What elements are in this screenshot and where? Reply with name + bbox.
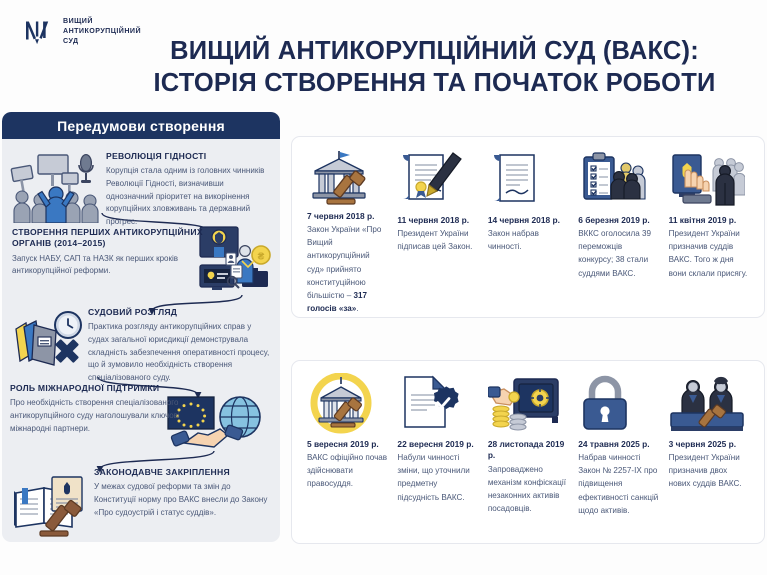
timeline-date: 6 березня 2019 р. bbox=[578, 215, 658, 226]
timeline-text: Закон набрав чинності. bbox=[488, 227, 568, 253]
preconditions-body: ₴ bbox=[2, 139, 280, 542]
open-book-gavel-decree-icon bbox=[14, 475, 96, 537]
timeline-text: Закон України «Про Вищий антикорупційний… bbox=[307, 223, 387, 315]
svg-text:₴: ₴ bbox=[258, 252, 265, 263]
timeline-item: 7 червня 2018 р. Закон України «Про Вищи… bbox=[302, 149, 392, 307]
timeline-date: 7 червня 2018 р. bbox=[307, 211, 387, 222]
timeline-date: 11 червня 2018 р. bbox=[397, 215, 477, 226]
timeline-item: 11 квітня 2019 р. Президент України приз… bbox=[664, 149, 754, 307]
page-title: ВИЩИЙ АНТИКОРУПЦІЙНИЙ СУД (ВАКС): ІСТОРІ… bbox=[112, 36, 757, 99]
timeline-date: 28 листопада 2019 р. bbox=[488, 439, 568, 462]
timeline-text: Набрав чинності Закон № 2257-IX про підв… bbox=[578, 451, 658, 517]
precondition-block-judicial-review: СУДОВИЙ РОЗГЛЯД Практика розгляду антико… bbox=[88, 307, 274, 384]
timeline-text: Президент України призначив двох нових с… bbox=[669, 451, 749, 490]
page-title-line-1: ВИЩИЙ АНТИКОРУПЦІЙНИЙ СУД (ВАКС): bbox=[170, 37, 699, 65]
timeline-text-after: . bbox=[356, 304, 358, 313]
protest-crowd-icon bbox=[10, 151, 102, 223]
timeline-date: 11 квітня 2019 р. bbox=[669, 215, 749, 226]
timeline-text-before: Закон України «Про Вищий антикорупційний… bbox=[307, 225, 381, 300]
document-check-badge-icon bbox=[397, 373, 477, 435]
timeline-text: Президент України призначив суддів ВАКС.… bbox=[669, 227, 749, 279]
timeline-item: 5 вересня 2019 р. ВАКС офіційно почав зд… bbox=[302, 373, 392, 533]
precondition-text-4: У межах судової реформи та змін до Конст… bbox=[94, 481, 272, 519]
timeline-item: 22 вересня 2019 р. Набули чинності зміни… bbox=[392, 373, 482, 533]
padlock-icon bbox=[578, 373, 658, 435]
scroll-document-icon bbox=[488, 149, 568, 211]
precondition-title-2: СУДОВИЙ РОЗГЛЯД bbox=[88, 307, 274, 318]
infographic-page: ВИЩИЙ АНТИКОРУПЦІЙНИЙ СУД ВИЩИЙ АНТИКОРУ… bbox=[0, 0, 767, 575]
document-signing-pen-icon bbox=[397, 149, 477, 211]
timeline-row-2: 5 вересня 2019 р. ВАКС офіційно почав зд… bbox=[292, 361, 764, 543]
preconditions-panel: Передумови створення bbox=[2, 112, 280, 542]
timeline-text: Запроваджено механізм конфіскації незако… bbox=[488, 463, 568, 515]
precondition-text-2: Практика розгляду антикорупційних справ … bbox=[88, 321, 274, 384]
precondition-block-first-bodies: СТВОРЕННЯ ПЕРШИХ АНТИКОРУПЦІЙНИХ ОРГАНІВ… bbox=[12, 227, 212, 278]
safe-coins-hand-icon bbox=[488, 373, 568, 435]
timeline-card-2019-2025: 5 вересня 2019 р. ВАКС офіційно почав зд… bbox=[291, 360, 765, 544]
timeline-item: 28 листопада 2019 р. Запроваджено механі… bbox=[483, 373, 573, 533]
precondition-text-3: Про необхідність створення спеціалізован… bbox=[10, 397, 196, 435]
timeline-text: ВККС оголосила 39 переможців конкурсу; 3… bbox=[578, 227, 658, 279]
logo-line-1: ВИЩИЙ bbox=[63, 17, 93, 25]
precondition-text-1: Запуск НАБУ, САП та НАЗК як перших крокі… bbox=[12, 253, 212, 278]
precondition-title-0: РЕВОЛЮЦІЯ ГІДНОСТІ bbox=[106, 151, 272, 162]
courthouse-gavel-icon bbox=[307, 149, 387, 207]
court-building-gold-ring-icon bbox=[307, 373, 387, 435]
timeline-item: 6 березня 2019 р. ВККС оголосила 39 пере… bbox=[573, 149, 663, 307]
timeline-date: 14 червня 2018 р. bbox=[488, 215, 568, 226]
precondition-block-legislative: ЗАКОНОДАВЧЕ ЗАКРІПЛЕННЯ У межах судової … bbox=[94, 467, 272, 519]
timeline-text: Президент України підписав цей Закон. bbox=[397, 227, 477, 253]
timeline-date: 3 червня 2025 р. bbox=[669, 439, 749, 450]
page-title-line-2: ІСТОРІЯ СТВОРЕННЯ ТА ПОЧАТОК РОБОТИ bbox=[112, 68, 757, 100]
precondition-title-4: ЗАКОНОДАВЧЕ ЗАКРІПЛЕННЯ bbox=[94, 467, 272, 478]
timeline-text: Набули чинності зміни, що уточнили предм… bbox=[397, 451, 477, 503]
logo-line-2: АНТИКОРУПЦІЙНИЙ bbox=[63, 27, 141, 35]
timeline-text: ВАКС офіційно почав здійснювати правосуд… bbox=[307, 451, 387, 490]
timeline-item: 14 червня 2018 р. Закон набрав чинності. bbox=[483, 149, 573, 307]
timeline-date: 24 травня 2025 р. bbox=[578, 439, 658, 450]
vaks-trident-monogram-icon bbox=[20, 14, 56, 50]
case-files-clock-cross-icon bbox=[10, 309, 88, 375]
timeline-item: 24 травня 2025 р. Набрав чинності Закон … bbox=[573, 373, 663, 533]
timeline-item: 11 червня 2018 р. Президент України підп… bbox=[392, 149, 482, 307]
page-header: ВИЩИЙ АНТИКОРУПЦІЙНИЙ СУД ВИЩИЙ АНТИКОРУ… bbox=[0, 0, 767, 112]
precondition-block-revolution: РЕВОЛЮЦІЯ ГІДНОСТІ Корупція стала одним … bbox=[106, 151, 272, 228]
preconditions-heading: Передумови створення bbox=[2, 112, 280, 139]
precondition-title-1: СТВОРЕННЯ ПЕРШИХ АНТИКОРУПЦІЙНИХ ОРГАНІВ… bbox=[12, 227, 212, 250]
two-judges-bench-icon bbox=[669, 373, 749, 435]
timeline-date: 5 вересня 2019 р. bbox=[307, 439, 387, 450]
timeline-item: 3 червня 2025 р. Президент України призн… bbox=[664, 373, 754, 533]
oath-hand-on-constitution-icon bbox=[669, 149, 749, 211]
precondition-block-international-support: РОЛЬ МІЖНАРОДНОЇ ПІДТРИМКИ Про необхідні… bbox=[10, 383, 196, 435]
clipboard-checklist-people-icon bbox=[578, 149, 658, 211]
timeline-card-2018-2019: 7 червня 2018 р. Закон України «Про Вищи… bbox=[291, 136, 765, 318]
precondition-title-3: РОЛЬ МІЖНАРОДНОЇ ПІДТРИМКИ bbox=[10, 383, 196, 394]
precondition-text-0: Корупція стала одним із головних чинникі… bbox=[106, 165, 272, 228]
logo-line-3: СУД bbox=[63, 37, 79, 45]
timeline-row-1: 7 червня 2018 р. Закон України «Про Вищи… bbox=[292, 137, 764, 317]
timeline-date: 22 вересня 2019 р. bbox=[397, 439, 477, 450]
